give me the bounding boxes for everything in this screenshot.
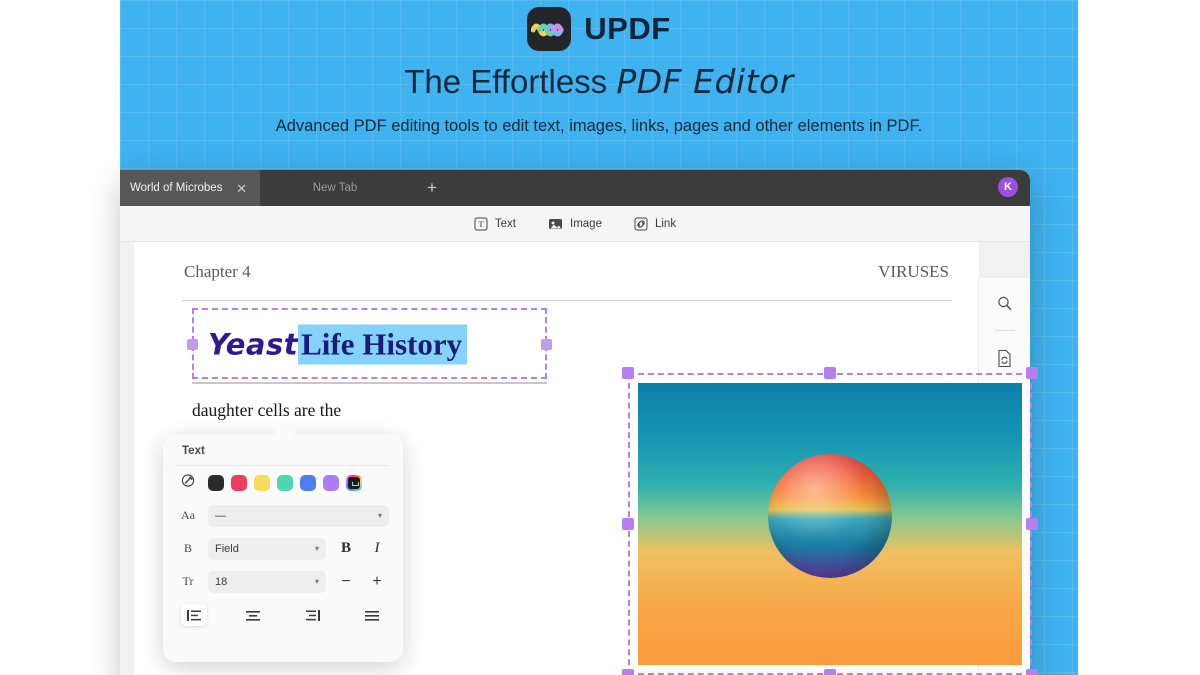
window-titlebar: World of Microbes ✕ New Tab + K <box>120 170 1030 206</box>
font-style-row: Aa — ▾ <box>163 499 403 532</box>
decrease-font-size-button[interactable]: − <box>335 573 357 591</box>
text-box-icon: T <box>474 217 488 231</box>
page-running-head: Chapter 4 VIRUSES <box>184 262 949 282</box>
brand-lockup: UPDF <box>120 7 1078 51</box>
color-swatch-list <box>208 475 362 491</box>
header-divider <box>182 300 952 301</box>
increase-font-size-button[interactable]: + <box>366 573 388 591</box>
swatch-yellow[interactable] <box>254 475 270 491</box>
swatch-teal[interactable] <box>277 475 293 491</box>
promo-subhead: Advanced PDF editing tools to edit text,… <box>120 117 1078 136</box>
color-picker-pen-icon[interactable] <box>177 473 199 492</box>
search-icon[interactable] <box>992 290 1018 316</box>
plus-icon[interactable]: + <box>410 170 454 206</box>
alignment-row <box>163 598 403 626</box>
image-handle-bottom-center[interactable] <box>824 669 836 675</box>
title-highlighted-text: Life History <box>298 324 467 364</box>
font-style-value: — <box>215 510 226 522</box>
swatch-purple[interactable] <box>323 475 339 491</box>
svg-text:T: T <box>478 220 483 229</box>
tool-label: Link <box>655 218 676 230</box>
swatch-blue[interactable] <box>300 475 316 491</box>
tab-label: World of Microbes <box>130 182 222 194</box>
title-italic-word: Yeast <box>208 327 298 361</box>
align-center-button[interactable] <box>240 604 266 626</box>
selection-handle-right[interactable] <box>541 339 552 350</box>
avatar[interactable]: K <box>998 177 1018 197</box>
image-handle-top-left[interactable] <box>622 367 634 379</box>
swatch-dark[interactable] <box>208 475 224 491</box>
font-style-select[interactable]: — ▾ <box>208 505 389 527</box>
popup-caret <box>275 426 295 436</box>
image-handle-top-center[interactable] <box>824 367 836 379</box>
tab-label: New Tab <box>313 182 358 194</box>
chevron-down-icon: ▾ <box>378 511 382 520</box>
image-handle-middle-right[interactable] <box>1026 518 1038 530</box>
link-icon <box>634 217 648 231</box>
title-underline <box>192 382 547 384</box>
image-selection[interactable] <box>628 373 1032 675</box>
tool-image[interactable]: Image <box>548 217 602 231</box>
swatch-custom-color[interactable] <box>346 475 362 491</box>
swatch-red[interactable] <box>231 475 247 491</box>
image-handle-bottom-right[interactable] <box>1026 669 1038 675</box>
sphere-graphic <box>768 454 892 578</box>
tab-world-of-microbes[interactable]: World of Microbes ✕ <box>120 170 260 206</box>
font-family-label: B <box>177 541 199 556</box>
image-handle-bottom-left[interactable] <box>622 669 634 675</box>
font-size-value: 18 <box>215 576 227 588</box>
bold-button[interactable]: B <box>335 540 357 557</box>
image-handle-top-right[interactable] <box>1026 367 1038 379</box>
sidebar-divider <box>995 330 1015 331</box>
updf-wave-logo-icon <box>527 7 571 51</box>
sunset-sphere-image[interactable] <box>638 383 1022 665</box>
font-size-label: Tr <box>177 574 199 589</box>
italic-button[interactable]: I <box>366 540 388 557</box>
tool-link[interactable]: Link <box>634 217 676 231</box>
tool-label: Image <box>570 218 602 230</box>
headline-main: The Effortless <box>404 63 616 100</box>
text-selection-box[interactable]: YeastLife History <box>192 308 547 379</box>
align-right-button[interactable] <box>300 604 326 626</box>
align-left-button[interactable] <box>181 604 207 626</box>
close-icon[interactable]: ✕ <box>233 182 250 195</box>
chevron-down-icon: ▾ <box>315 577 319 586</box>
tool-label: Text <box>495 218 516 230</box>
headline-accent: PDF Editor <box>616 62 793 101</box>
image-icon <box>548 217 563 231</box>
brand-name: UPDF <box>584 11 670 47</box>
font-family-row: B Field ▾ B I <box>163 532 403 565</box>
font-size-row: Tr 18 ▾ − + <box>163 565 403 598</box>
tab-new-tab[interactable]: New Tab <box>260 170 410 206</box>
popup-title: Text <box>163 434 403 465</box>
editing-toolbar: T Text Image Link <box>120 206 1030 242</box>
color-row <box>163 466 403 499</box>
font-style-label: Aa <box>177 508 199 523</box>
align-justify-button[interactable] <box>359 604 385 626</box>
text-format-popup: Text Aa — ▾ B <box>163 434 403 662</box>
font-family-value: Field <box>215 543 239 555</box>
screenshot-root: UPDF The Effortless PDF Editor Advanced … <box>0 0 1200 675</box>
page-header-right: VIRUSES <box>878 262 949 282</box>
tool-text[interactable]: T Text <box>474 217 516 231</box>
font-family-select[interactable]: Field ▾ <box>208 538 326 560</box>
selection-handle-left[interactable] <box>187 339 198 350</box>
font-size-select[interactable]: 18 ▾ <box>208 571 326 593</box>
page-convert-icon[interactable] <box>992 345 1018 371</box>
document-title: YeastLife History <box>208 328 467 359</box>
image-handle-middle-left[interactable] <box>622 518 634 530</box>
page-header-left: Chapter 4 <box>184 262 251 282</box>
chevron-down-icon: ▾ <box>315 544 319 553</box>
promo-headline: The Effortless PDF Editor <box>120 62 1078 101</box>
